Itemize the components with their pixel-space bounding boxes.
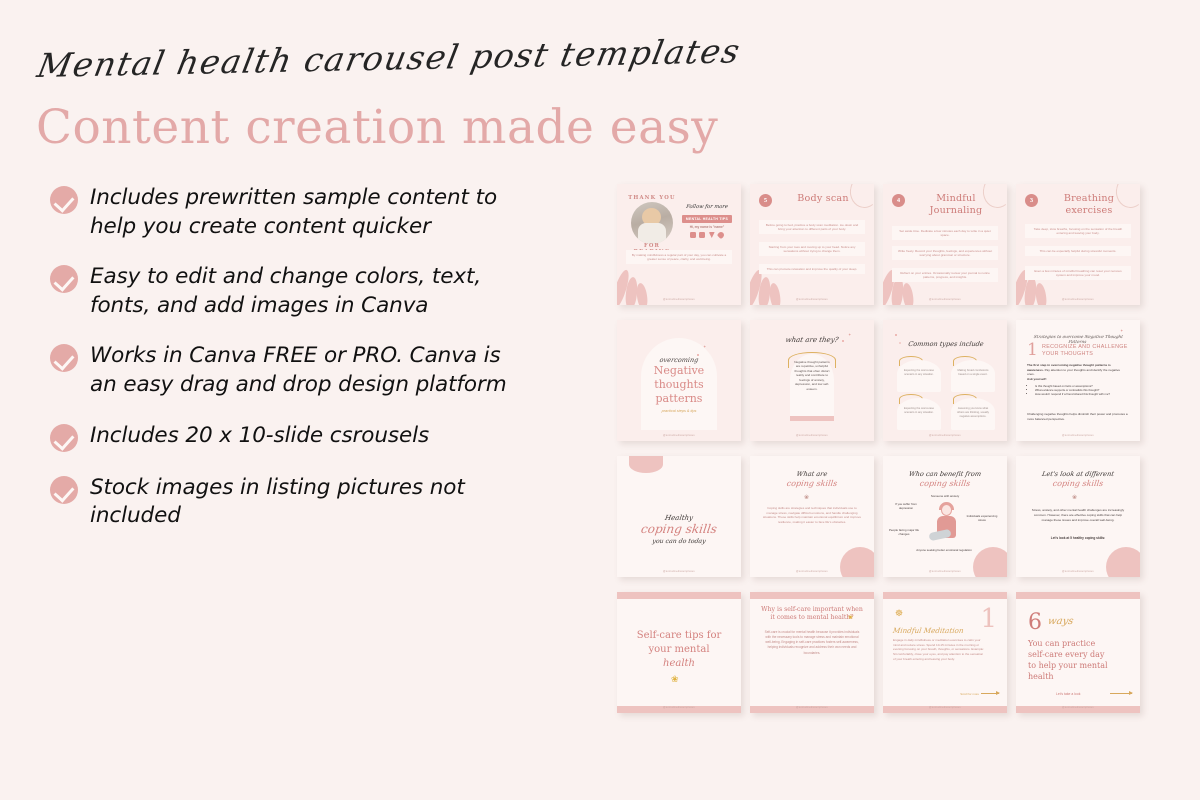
check-circle-icon [50,344,78,372]
cover-line-3: health [625,658,733,669]
card-body-text: Engage in daily mindfulness or meditatio… [893,638,985,661]
watermark: @socialmediatemplates [883,570,1007,573]
list-item: Easy to edit and change colors, text, fo… [50,263,520,320]
template-card-breathing-exercises[interactable]: 3 Breathing exercises Take deep, slow br… [1016,184,1140,305]
feature-text: Includes 20 x 10-slide csrousels [90,422,429,451]
thank-you-arc-top: THANK YOU [625,195,679,201]
list-item: Includes 20 x 10-slide csrousels [50,422,520,452]
card-body-text: Before going to bed, practice a body sca… [759,220,865,234]
bookmark-icon [699,232,705,238]
cover-line-1: Negative [641,364,717,378]
left-panel: Mental health carousel post templates Co… [0,0,600,800]
watermark: @socialmediatemplates [617,706,741,709]
card-body-text: Even a few minutes of mindful breathing … [1025,266,1131,280]
top-band [750,592,874,599]
card-body-text: This can be especially helpful during st… [1025,246,1131,256]
slide-number-badge: 3 [1025,194,1038,207]
feature-list: Includes prewritten sample content to he… [50,184,520,531]
feature-text: Includes prewritten sample content to he… [90,184,520,241]
template-gallery: THANK YOU FOR READING Follow for more ME… [617,184,1140,713]
list-item: How would I respond if a friend shared t… [1035,392,1126,396]
hi-my-name-text: Hi, my name is "name" [681,225,733,229]
watermark: @socialmediatemplates [617,570,741,573]
watermark: @socialmediatemplates [883,706,1007,709]
title-script-1: Who can benefit from [894,470,995,478]
pink-bar [790,416,834,421]
closing-text: Challenging negative thoughts helps dimi… [1027,412,1128,421]
benefit-label: Individuals experiencing stress [965,514,999,522]
feature-text: Works in Canva FREE or PRO. Canva is an … [90,342,520,399]
template-card-recognize-challenge[interactable]: ✦ Strategies to overcome Negative Though… [1016,320,1140,441]
benefit-label: Anyone seeking better emotional regulati… [915,548,973,552]
type-item: Expecting the worst-case scenario in any… [897,398,941,430]
avatar [631,202,673,244]
what-are-they-script: what are they? [771,336,852,344]
template-card-what-are-they[interactable]: ✦ what are they? Negative thought patter… [750,320,874,441]
check-circle-icon [50,424,78,452]
cover-line-1: Self-care tips for [625,630,733,641]
watermark: @socialmediatemplates [1016,298,1140,301]
big-number: 6 [1028,612,1042,634]
benefit-label: People facing major life changes [887,528,921,536]
benefit-label: If you suffer from depression [889,502,923,510]
template-card-negative-thoughts-cover[interactable]: ✦ overcoming Negative thoughts patterns … [617,320,741,441]
person-illustration [929,504,963,544]
dot-icon [895,334,897,336]
slide-number-badge: 4 [892,194,905,207]
card-title: Breathing exercises [1044,193,1134,217]
cover-line-2: your mental [625,644,733,655]
step-title: RECOGNIZE AND CHALLENGE YOUR THOUGHTS [1042,344,1128,359]
page-root: Mental health carousel post templates Co… [0,0,1200,800]
card-body-text: Negative thought patterns are repetitive… [792,360,832,391]
watermark: @socialmediatemplates [617,298,741,301]
list-item: Includes prewritten sample content to he… [50,184,520,241]
template-card-what-are-coping-skills[interactable]: What are coping skills ❀ Coping skills a… [750,456,874,577]
feature-text: Easy to edit and change colors, text, fo… [90,263,520,320]
check-circle-icon [50,186,78,214]
card-body-text: Write freely. Record your thoughts, feel… [892,246,998,260]
cover-line-2: coping skills [630,522,728,536]
check-circle-icon [50,476,78,504]
mental-health-tips-pill: MENTAL HEALTH TIPS [682,215,732,223]
top-band [1016,592,1140,599]
lotus-icon: ☸ [895,608,903,619]
template-card-thank-you[interactable]: THANK YOU FOR READING Follow for more ME… [617,184,741,305]
headline-line-4: health [1028,671,1132,683]
question-list: Is this thought based on facts or assump… [1030,384,1126,397]
sparkle-icon: ✦ [703,344,706,349]
watermark: @socialmediatemplates [750,298,874,301]
title-script-1: What are [769,470,854,478]
card-body-text: Take deep, slow breaths, focusing on the… [1025,224,1131,238]
overcoming-script: overcoming [646,356,711,364]
ask-yourself: Ask yourself: [1027,377,1128,382]
watermark: @socialmediatemplates [750,570,874,573]
card-title: Body scan [778,193,868,205]
cover-subtitle: practical steps & tips [641,409,717,413]
cover-line-1: Healthy [630,514,727,522]
card-title: Mindful Meditation [892,626,985,635]
arrow-right-icon [981,693,999,694]
instagram-icon [690,232,696,238]
social-icons-row [681,232,733,238]
card-cta-text: Let's take a look [1056,692,1080,696]
card-body-text: This can promote relaxation and improve … [759,264,865,274]
flower-icon: ❀ [848,614,853,621]
follow-script-text: Follow for more [680,204,733,210]
heart-icon [717,231,725,239]
watermark: @socialmediatemplates [883,298,1007,301]
watermark: @socialmediatemplates [1016,570,1140,573]
arrow-right-icon [1110,693,1132,694]
headline-line-2: self-care every day [1028,649,1132,661]
top-band [617,592,741,599]
title-script-2: coping skills [769,479,854,488]
ornament-icon: ❀ [804,494,809,501]
title-script-2: coping skills [1027,479,1128,488]
template-card-six-ways[interactable]: 6 ways You can practice self-care every … [1016,592,1140,713]
list-item: Stock images in listing pictures not inc… [50,474,520,531]
watermark: @socialmediatemplates [617,434,741,437]
cover-line-2: thoughts [641,378,717,392]
watermark: @socialmediatemplates [883,434,1007,437]
type-item: Making broad conclusions based on a sing… [951,360,995,392]
template-card-self-care-cover[interactable]: Self-care tips for your mental health ❀ … [617,592,741,713]
template-card-why-self-care[interactable]: Why is self-care important when it comes… [750,592,874,713]
card-title: Mindful Journaling [911,193,1001,217]
card-body-text: Starting from your toes and moving up to… [759,242,865,256]
half-circle-decoration [629,456,663,473]
headline-line-3: to help your mental [1028,660,1132,672]
gold-arc-icon [708,184,741,217]
title-script-1: Let's look at different [1027,470,1128,478]
top-band [883,592,1007,599]
card-body-text: By making mindfulness a regular part of … [626,250,732,264]
list-item: Works in Canva FREE or PRO. Canva is an … [50,342,520,399]
watermark: @socialmediatemplates [1016,706,1140,709]
template-card-healthy-coping-cover[interactable]: Healthy coping skills you can do today @… [617,456,741,577]
card-body-text: Coping skills are strategies and techniq… [762,506,862,525]
strategies-script: Strategies to overcome Negative Thought … [1025,334,1131,344]
template-card-lets-look-different[interactable]: Let's look at different coping skills ❀ … [1016,456,1140,577]
sparkle-icon: ✦ [1120,328,1123,333]
cover-line-3: you can do today [630,538,727,545]
send-icon [709,232,715,238]
card-body-text: Self-care is crucial for mental health b… [764,630,860,656]
step-number: 1 [1027,342,1038,359]
card-cta-text: Let's look at 5 healthy coping skills: [1028,536,1128,540]
slide-number-badge: 5 [759,194,772,207]
type-item: Expecting the worst-case scenario in any… [897,360,941,392]
card-cta-text: Scroll for more [960,692,979,696]
page-title: Content creation made easy [36,100,718,155]
title-script-2: coping skills [894,479,995,488]
watermark: @socialmediatemplates [750,706,874,709]
cover-line-3: patterns [641,392,717,406]
common-types-script: Common types include [896,340,995,348]
check-circle-icon [50,265,78,293]
watermark: @socialmediatemplates [1016,434,1140,437]
ways-script: ways [1047,616,1074,627]
feature-text: Stock images in listing pictures not inc… [90,474,520,531]
template-card-who-can-benefit[interactable]: Who can benefit from coping skills Someo… [883,456,1007,577]
template-card-mindful-meditation[interactable]: ☸ 1 Mindful Meditation Engage in daily m… [883,592,1007,713]
watermark: @socialmediatemplates [750,434,874,437]
template-card-mindful-journaling[interactable]: 4 Mindful Journaling Set aside time. Ded… [883,184,1007,305]
headline-line-1: You can practice [1028,638,1132,650]
flower-icon: ❀ [671,674,679,685]
ornament-icon: ❀ [1072,494,1077,501]
template-card-body-scan[interactable]: 5 Body scan Before going to bed, practic… [750,184,874,305]
script-title: Mental health carousel post templates [34,30,805,85]
benefit-label: Someone with anxiety [927,494,963,498]
type-item: Assuming you know what others are thinki… [951,398,995,430]
card-body-text: Stress, anxiety, and other mental health… [1028,508,1128,522]
card-body-text: Reflect on your entries. Occasionally re… [892,268,998,282]
template-card-common-types[interactable]: Common types include Expecting the worst… [883,320,1007,441]
card-body-text: Set aside time. Dedicate a few minutes e… [892,226,998,240]
